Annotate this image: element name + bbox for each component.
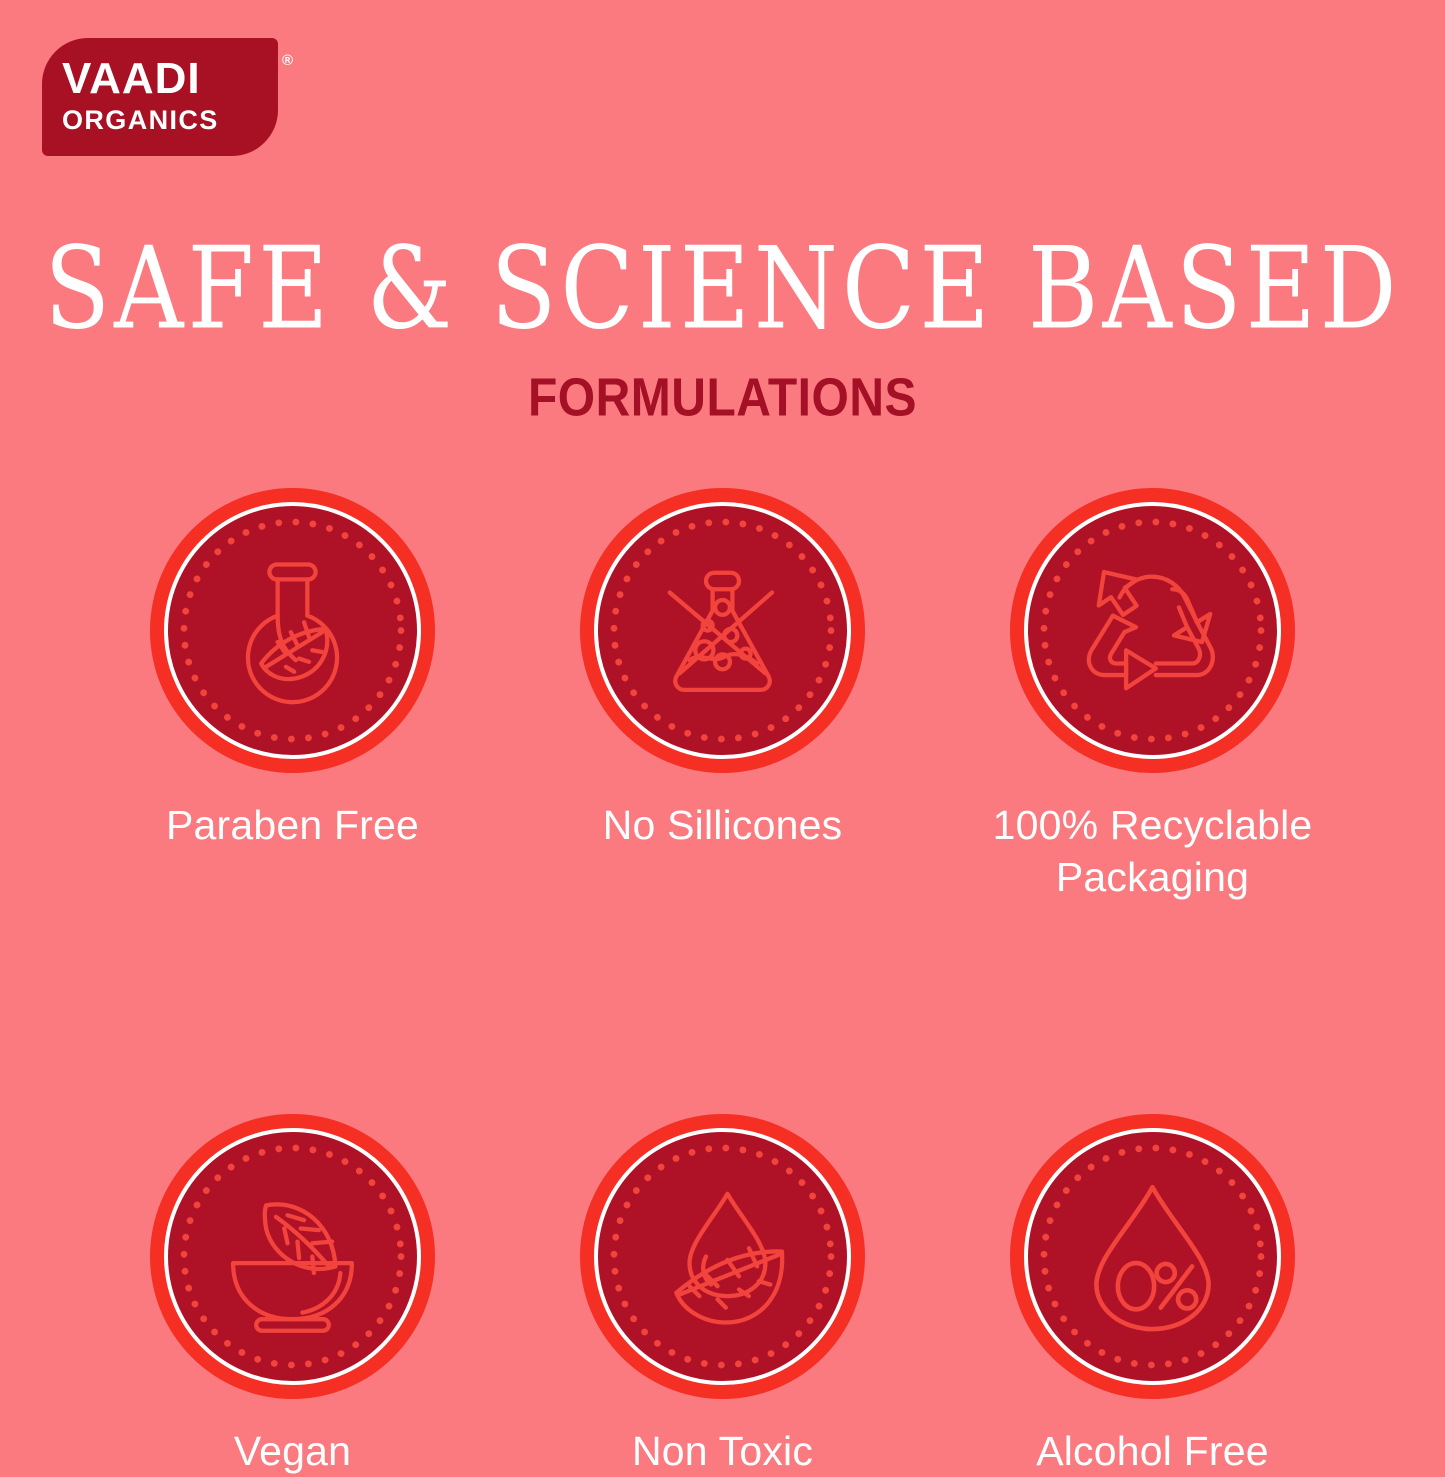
- badge-disc: [580, 1114, 865, 1399]
- badge-recyclable-packaging[interactable]: 100% RecyclablePackaging: [938, 488, 1368, 904]
- brand-logo[interactable]: VAADI® ORGANICS: [42, 38, 278, 156]
- badge-inner-disc: [1024, 1128, 1281, 1385]
- page-subtitle: FORMULATIONS: [0, 372, 1445, 426]
- brand-logo-tagline: ORGANICS: [62, 105, 278, 136]
- badge-inner-disc: [594, 502, 851, 759]
- badge-label: Vegan: [234, 1425, 351, 1477]
- badge-disc: [580, 488, 865, 773]
- badge-label: No Sillicones: [603, 799, 843, 851]
- badge-label: 100% RecyclablePackaging: [993, 799, 1313, 904]
- badge-no-sillicones[interactable]: No Sillicones: [508, 488, 938, 851]
- badge-disc: [150, 1114, 435, 1399]
- badge-row-1: Paraben Free: [0, 488, 1445, 904]
- badge-label-line-1: 100% Recyclable: [993, 802, 1313, 848]
- badge-inner-disc: [1024, 502, 1281, 759]
- flask-leaf-icon: [210, 548, 375, 713]
- badge-alcohol-free[interactable]: Alcohol Free: [938, 1114, 1368, 1477]
- badge-paraben-free[interactable]: Paraben Free: [78, 488, 508, 851]
- badge-grid: Paraben Free: [0, 488, 1445, 1477]
- badge-disc: [1010, 488, 1295, 773]
- page-title: SAFE & SCIENCE BASED: [0, 232, 1445, 345]
- badge-inner-disc: [594, 1128, 851, 1385]
- badge-inner-disc: [164, 502, 421, 759]
- crossed-out-erlenmeyer-flask-icon: [640, 548, 805, 713]
- bowl-leaf-icon: [210, 1174, 375, 1339]
- brand-logo-name-text: VAADI: [62, 54, 201, 103]
- badge-inner-disc: [164, 1128, 421, 1385]
- badge-label-line-2: Packaging: [1056, 854, 1249, 900]
- badge-label: Alcohol Free: [1036, 1425, 1269, 1477]
- badge-label: Paraben Free: [166, 799, 419, 851]
- badge-disc: [150, 488, 435, 773]
- badge-disc: [1010, 1114, 1295, 1399]
- badge-row-2: Vegan: [0, 1114, 1445, 1477]
- registered-trademark-icon: ®: [282, 53, 294, 68]
- droplet-zero-percent-icon: [1070, 1174, 1235, 1339]
- droplet-leaf-icon: [640, 1174, 805, 1339]
- badge-vegan[interactable]: Vegan: [78, 1114, 508, 1477]
- brand-logo-name: VAADI®: [62, 57, 278, 101]
- badge-non-toxic[interactable]: Non Toxic: [508, 1114, 938, 1477]
- recycle-icon: [1070, 548, 1235, 713]
- badge-label: Non Toxic: [632, 1425, 813, 1477]
